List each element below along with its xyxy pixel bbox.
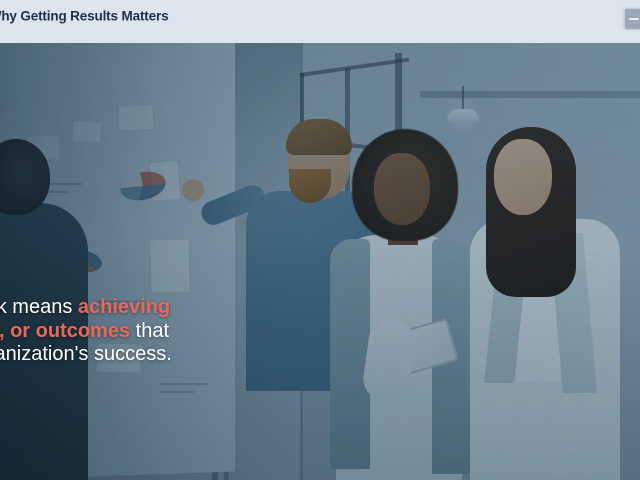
hero-headline-line-1: ng results at work means achieving [0,296,490,320]
hero-section: ng results at work means achieving oals,… [0,43,640,480]
page-title-rest: Why Getting Results Matters [0,9,168,24]
hero-image-color-wash [0,43,640,480]
hamburger-icon[interactable] [624,8,640,30]
header-text-block: Briefs® Why Getting Results Matters ion [0,5,168,41]
page-header: Briefs® Why Getting Results Matters ion [0,0,640,43]
page-root: Briefs® Why Getting Results Matters ion [0,0,640,480]
hero-headline: ng results at work means achieving oals,… [0,296,490,367]
hero-headline-line-1-accent: achieving [78,296,170,318]
hero-headline-line-2: oals, objectives, or outcomes that [0,320,490,344]
hamburger-icon-bar [629,18,639,20]
hero-image [0,43,640,480]
page-title: Briefs® Why Getting Results Matters [0,5,168,25]
hero-headline-line-2-accent: oals, objectives, or outcomes [0,320,130,342]
hero-headline-line-3: ibute to your organization's success. [0,343,490,367]
page-subtitle: ion [0,26,168,41]
hero-headline-line-2-plain: that [130,320,169,342]
hero-headline-line-1-plain: ng results at work means [0,296,78,318]
